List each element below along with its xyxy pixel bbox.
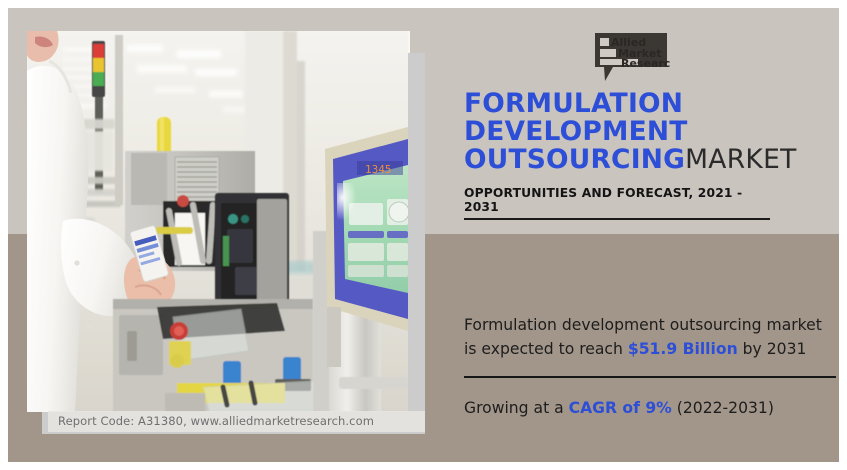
report-code-text: Report Code: A31380, www.alliedmarketres… bbox=[58, 414, 374, 428]
svg-text:Research: Research bbox=[621, 57, 671, 70]
allied-market-research-logo: Allied Market Research bbox=[591, 31, 671, 83]
page-title: FORMULATION DEVELOPMENT OUTSOURCINGMARKE… bbox=[464, 90, 839, 174]
stats-divider bbox=[464, 376, 836, 378]
stat-cagr-figure: CAGR of 9% bbox=[569, 399, 672, 417]
title-line-3-market: MARKET bbox=[685, 144, 797, 175]
stat-market-value-suffix: by 2031 bbox=[738, 340, 807, 358]
subtitle-forecast: OPPORTUNITIES AND FORECAST, 2021 - 2031 bbox=[464, 186, 770, 220]
market-report-banner: 1345 Report Code: A31380, www.allied bbox=[0, 0, 847, 470]
title-line-1: FORMULATION bbox=[464, 90, 839, 118]
title-line-2: DEVELOPMENT bbox=[464, 118, 839, 146]
lab-photo: 1345 bbox=[27, 31, 408, 412]
stat-cagr-prefix: Growing at a bbox=[464, 399, 569, 417]
stat-market-value: Formulation development outsourcing mark… bbox=[464, 313, 839, 361]
report-code-bar: Report Code: A31380, www.alliedmarketres… bbox=[48, 411, 425, 432]
stat-market-value-figure: $51.9 Billion bbox=[628, 340, 738, 358]
stat-cagr-suffix: (2022-2031) bbox=[672, 399, 774, 417]
stat-cagr: Growing at a CAGR of 9% (2022-2031) bbox=[464, 396, 839, 420]
title-line-3-keyword: OUTSOURCING bbox=[464, 144, 685, 175]
